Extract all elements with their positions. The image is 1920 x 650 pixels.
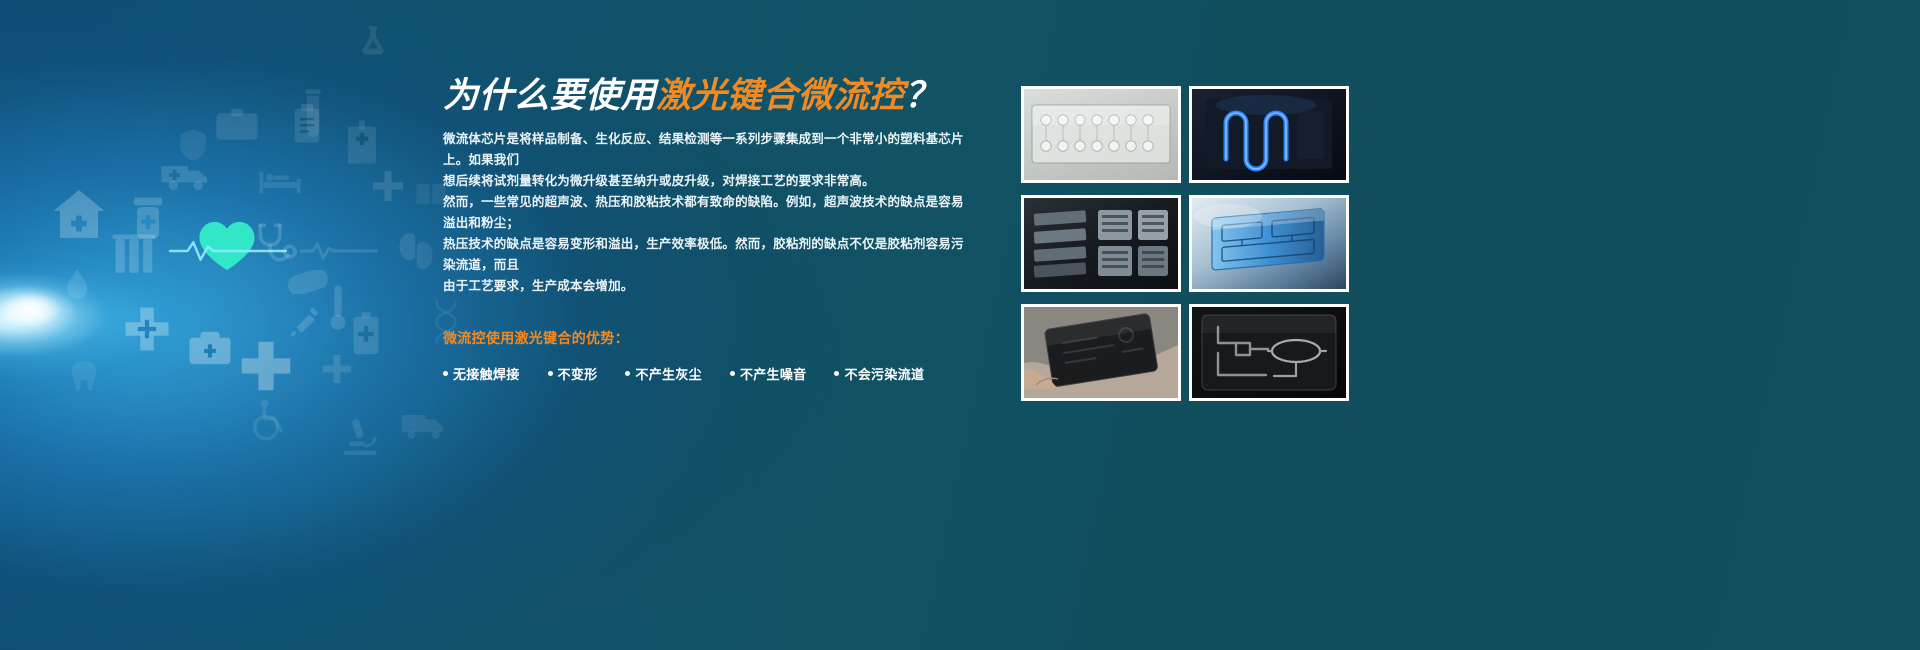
home-plus-icon [52,188,106,240]
advantage-label-4: 不产生噪音 [740,364,807,383]
first-aid-kit-icon [188,330,232,366]
banner-content: 为什么要使用激光键合微流控？ 微流体芯片是将样品制备、生化反应、结果检测等一系列… [443,78,968,383]
stethoscope-icon [252,222,298,268]
gallery-item-blue-bonded-chip[interactable] [1189,195,1349,292]
cross-icon [240,340,292,392]
paragraph-line-3: 然而，一些常见的超声波、热压和胶粘技术都有致命的缺陷。例如，超声波技术的缺点是容… [443,192,968,234]
tooth-icon [70,360,98,394]
gallery-item-black-cartridge-detail[interactable] [1189,304,1349,401]
paragraph-line-4: 热压技术的缺点是容易变形和溢出，生产效率极低。然而，胶粘剂的缺点不仅是胶粘剂容易… [443,234,968,276]
advantage-label-1: 无接触焊接 [453,364,520,383]
test-tube-icon [300,88,326,140]
syringe-icon [288,306,322,340]
headline-prefix: 为什么要使用 [443,76,656,115]
thermometer-icon [327,284,349,332]
flask-icon [355,18,391,64]
advantages-subheading: 微流控使用激光键合的优势： [443,328,968,348]
light-beam-mid [0,215,240,415]
clipboard-icon [293,104,321,144]
light-beam-core [0,255,140,365]
bullet-dot-icon [625,371,630,376]
advantage-item-4: 不产生噪音 [730,364,807,383]
description-paragraph: 微流体芯片是将样品制备、生化反应、结果检测等一系列步骤集成到一个非常小的塑料基芯… [443,129,968,297]
advantage-label-3: 不产生灰尘 [635,364,702,383]
gallery-item-handheld-black-cartridge[interactable] [1021,304,1181,401]
headline-highlight: 激光键合微流控 [656,76,905,115]
advantage-label-5: 不会污染流道 [844,364,924,383]
plus-icon [320,352,354,386]
headline-suffix: ？ [905,76,941,115]
kidney-icon [396,230,436,272]
hospital-icon [345,120,379,164]
paragraph-line-1: 微流体芯片是将样品制备、生化反应、结果检测等一系列步骤集成到一个非常小的塑料基芯… [443,129,968,171]
advantage-item-3: 不产生灰尘 [625,364,702,383]
light-beam-outer [0,170,420,470]
ambulance-icon [160,158,210,192]
gallery-item-microfluidic-chip-array[interactable] [1021,86,1181,183]
bandage-icon [286,270,330,294]
gallery-item-chip-strip-collection[interactable] [1021,195,1181,292]
advantage-item-5: 不会污染流道 [834,364,924,383]
promo-banner: 为什么要使用激光键合微流控？ 微流体芯片是将样品制备、生化反应、结果检测等一系列… [0,0,1920,650]
truck-icon [400,410,446,440]
page-title: 为什么要使用激光键合微流控？ [443,78,968,115]
advantage-item-2: 不变形 [548,364,598,383]
bullet-dot-icon [548,371,553,376]
bullet-dot-icon [730,371,735,376]
pill-icon [128,196,168,240]
drop-icon [64,268,90,300]
battery-icon [352,312,380,356]
shield-icon [178,128,208,162]
advantages-list: 无接触焊接 不变形 不产生灰尘 不产生噪音 不会污染流道 [443,364,968,383]
advantage-label-2: 不变形 [558,364,598,383]
product-gallery [1021,86,1349,401]
bullet-dot-icon [834,371,839,376]
bed-icon [258,168,302,196]
heart-pulse-icon [196,218,258,274]
test-tube-rack-icon [112,233,162,279]
paragraph-line-2: 想后续将试剂量转化为微升级甚至纳升或皮升级，对焊接工艺的要求非常高。 [443,171,968,192]
bullet-dot-icon [443,371,448,376]
id-card-icon [215,108,259,142]
ecg-icon [300,240,378,262]
microscope-icon [340,416,380,458]
plus-icon [370,168,406,204]
wheelchair-icon [248,398,290,442]
paragraph-line-5: 由于工艺要求，生产成本会增加。 [443,276,968,297]
gallery-item-serpentine-channel-chip[interactable] [1189,86,1349,183]
ecg-icon [168,238,288,264]
cross-icon [124,306,170,352]
advantage-item-1: 无接触焊接 [443,364,520,383]
